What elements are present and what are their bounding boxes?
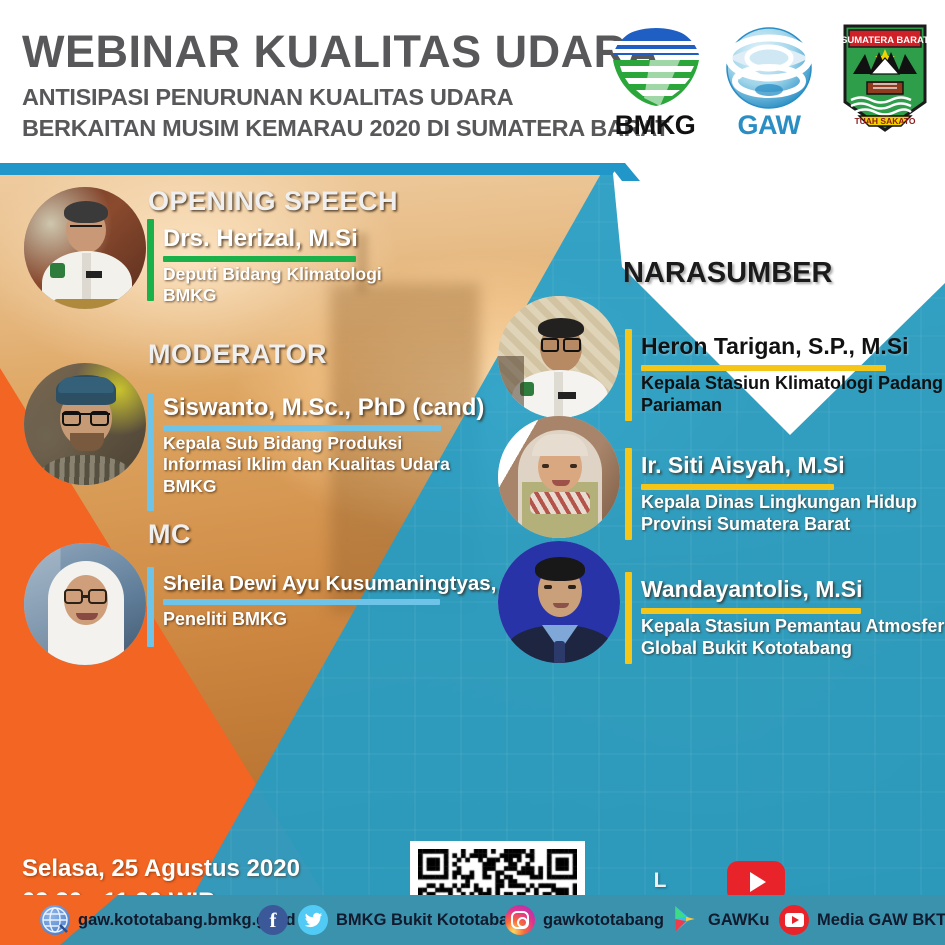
sumatera-barat-emblem-icon: SUMATERA BARAT TUAH SAKATO — [841, 22, 929, 134]
speaker-role-narasumber-1: Kepala Stasiun Klimatologi Padang Pariam… — [641, 373, 943, 417]
avatar-moderator — [24, 363, 146, 485]
accent-bar-narasumber-1 — [625, 329, 632, 421]
speaker-role-moderator: Kepala Sub Bidang Produksi Informasi Ikl… — [163, 433, 450, 497]
subtitle-line-2: BERKAITAN MUSIM KEMARAU 2020 DI SUMATERA… — [22, 115, 669, 142]
live-letter-l: L — [648, 863, 672, 899]
speaker-name-moderator: Siswanto, M.Sc., PhD (cand) — [163, 394, 484, 422]
speaker-name-narasumber-2: Ir. Siti Aisyah, M.Si — [641, 452, 845, 479]
accent-underline-moderator — [163, 425, 441, 431]
event-date: Selasa, 25 Agustus 2020 — [22, 855, 300, 883]
gaw-globe-icon — [725, 24, 813, 110]
footer-item-facebook[interactable]: f — [258, 905, 288, 935]
avatar-opening-speech — [24, 187, 146, 309]
footer-item-google-play[interactable]: GAWKu — [672, 905, 769, 935]
accent-underline-narasumber-1 — [641, 365, 886, 371]
speaker-name-narasumber-1: Heron Tarigan, S.P., M.Si — [641, 333, 909, 360]
bmkg-logo-label: BMKG — [605, 110, 705, 141]
speaker-name-narasumber-3: Wandayantolis, M.Si — [641, 576, 863, 603]
accent-bar-moderator — [147, 393, 154, 511]
page-title: WEBINAR KUALITAS UDARA — [22, 26, 660, 78]
poster-footer: gaw.kototabang.bmkg.go.id f BMKG Bukit K… — [0, 895, 945, 945]
footer-instagram-text: gawkototabang — [543, 911, 664, 930]
webinar-poster: WEBINAR KUALITAS UDARA ANTISIPASI PENURU… — [0, 0, 945, 945]
svg-text:SUMATERA BARAT: SUMATERA BARAT — [841, 35, 929, 46]
accent-underline-opening-speech — [163, 256, 356, 262]
instagram-icon — [505, 905, 535, 935]
footer-twitter-text: BMKG Bukit Kototabang — [336, 911, 528, 930]
section-heading-moderator: MODERATOR — [148, 339, 327, 370]
accent-bar-mc — [147, 567, 154, 647]
poster-header: WEBINAR KUALITAS UDARA ANTISIPASI PENURU… — [0, 0, 945, 163]
sumatera-barat-logo: SUMATERA BARAT TUAH SAKATO — [833, 22, 933, 142]
accent-bar-opening-speech — [147, 219, 154, 301]
section-heading-narasumber: NARASUMBER — [623, 257, 832, 290]
bmkg-mark-icon — [610, 22, 702, 110]
footer-youtube-text: Media GAW BKT — [817, 911, 945, 930]
avatar-narasumber-1 — [498, 296, 620, 418]
youtube-icon-footer — [779, 905, 809, 935]
footer-item-instagram[interactable]: gawkototabang — [505, 905, 664, 935]
bmkg-logo: BMKG — [605, 22, 705, 142]
section-heading-opening-speech: OPENING SPEECH — [148, 186, 398, 217]
speaker-role-mc: Peneliti BMKG — [163, 609, 287, 631]
accent-bar-narasumber-3 — [625, 572, 632, 664]
speaker-name-opening-speech: Drs. Herizal, M.Si — [163, 225, 358, 253]
accent-underline-narasumber-3 — [641, 608, 861, 614]
youtube-play-triangle — [750, 872, 766, 892]
speaker-role-narasumber-3: Kepala Stasiun Pemantau Atmosfer Global … — [641, 616, 944, 660]
accent-underline-narasumber-2 — [641, 484, 834, 490]
svg-text:TUAH SAKATO: TUAH SAKATO — [854, 116, 915, 126]
facebook-icon: f — [258, 905, 288, 935]
speaker-role-narasumber-2: Kepala Dinas Lingkungan Hidup Provinsi S… — [641, 492, 917, 536]
avatar-narasumber-2 — [498, 416, 620, 538]
speaker-name-mc: Sheila Dewi Ayu Kusumaningtyas, M.Si — [163, 572, 544, 596]
section-heading-mc: MC — [148, 519, 191, 550]
google-play-icon — [672, 905, 700, 935]
twitter-icon — [298, 905, 328, 935]
footer-item-twitter[interactable]: BMKG Bukit Kototabang — [298, 905, 528, 935]
footer-item-youtube[interactable]: Media GAW BKT — [779, 905, 945, 935]
avatar-mc — [24, 543, 146, 665]
avatar-narasumber-3 — [498, 541, 620, 663]
speaker-role-opening-speech: Deputi Bidang Klimatologi BMKG — [163, 264, 382, 307]
logo-group: BMKG — [605, 22, 933, 142]
globe-icon — [40, 905, 70, 935]
gaw-logo: GAW — [719, 22, 819, 142]
poster-body: OPENING SPEECH Drs. Herizal, M.Si Deputi — [0, 163, 945, 945]
footer-google-play-text: GAWKu — [708, 911, 769, 930]
accent-underline-mc — [163, 599, 440, 605]
accent-bar-narasumber-2 — [625, 448, 632, 540]
subtitle-line-1: ANTISIPASI PENURUNAN KUALITAS UDARA — [22, 84, 513, 111]
gaw-logo-label: GAW — [719, 110, 819, 141]
